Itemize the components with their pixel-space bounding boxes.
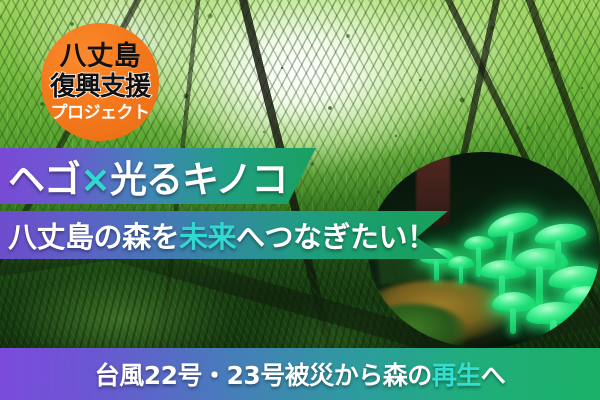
hachijojima-reconstruction-badge: 八丈島 復興支援 プロジェクト <box>41 23 159 141</box>
headline-band-secondary-text: 八丈島の森を未来へつなぎたい！ <box>0 214 436 256</box>
footer-segment: へ <box>481 361 506 390</box>
headline-band-primary-text: ヘゴ×光るキノコ <box>0 149 287 203</box>
badge-line-1: 八丈島 <box>60 43 141 70</box>
headline-segment-highlight: × <box>80 158 110 201</box>
footer-segment: 台風22号・23号被災から森の <box>95 361 432 390</box>
headline-segment: 光るキノコ <box>110 158 287 201</box>
footer-band-text: 台風22号・23号被災から森の再生へ <box>95 356 506 392</box>
headline-band-secondary: 八丈島の森を未来へつなぎたい！ <box>0 211 448 259</box>
headline-segment: 八丈島の森を <box>8 220 179 254</box>
footer-segment-highlight: 再生 <box>432 361 481 390</box>
badge-line-3: プロジェクト <box>51 105 150 122</box>
headline-band-primary: ヘゴ×光るキノコ <box>0 148 316 204</box>
headline-segment: ヘゴ <box>8 158 80 201</box>
poster-root: 八丈島 復興支援 プロジェクト ヘゴ×光るキノコ 八丈島の森を未来へつなぎたい！… <box>0 0 600 400</box>
badge-line-2: 復興支援 <box>50 74 150 100</box>
headline-segment-highlight: 未来 <box>179 220 236 254</box>
footer-band: 台風22号・23号被災から森の再生へ <box>0 348 600 400</box>
headline-segment: へつなぎたい！ <box>236 220 436 254</box>
